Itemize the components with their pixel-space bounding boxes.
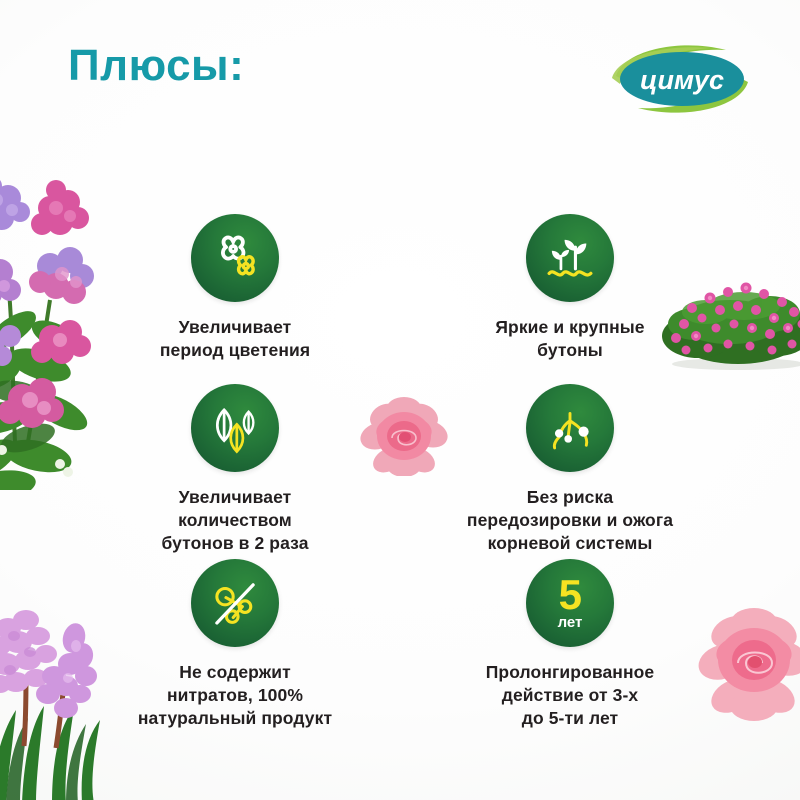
two-flowers-icon [206,229,264,287]
three-leaves-icon [206,399,264,457]
benefit-label: Яркие и крупные бутоны [420,316,720,362]
benefit-label: Без риска передозировки и ожога корневой… [420,486,720,555]
benefit-icon-badge [191,559,279,647]
benefits-grid: Увеличивает период цветения [0,0,800,800]
years-unit: лет [558,615,583,630]
benefit-icon-badge [191,384,279,472]
root-system-icon [541,399,599,457]
benefit-item-bloom-period[interactable]: Увеличивает период цветения [85,214,385,362]
years-number: 5 [559,576,582,615]
benefit-item-prolonged-action[interactable]: 5 лет Пролонгированное действие от 3-х д… [420,559,720,730]
benefit-item-no-overdose[interactable]: Без риска передозировки и ожога корневой… [420,384,720,555]
benefit-label: Увеличивает количеством бутонов в 2 раза [85,486,385,555]
benefit-label: Не содержит нитратов, 100% натуральный п… [85,661,385,730]
benefit-item-bud-count[interactable]: Увеличивает количеством бутонов в 2 раза [85,384,385,555]
poster-canvas: Плюсы: цимус [0,0,800,800]
benefit-icon-badge: 5 лет [526,559,614,647]
benefit-icon-badge [191,214,279,302]
no-nitrates-icon [206,574,264,632]
five-years-icon: 5 лет [558,576,583,631]
benefit-icon-badge [526,384,614,472]
benefit-label: Увеличивает период цветения [85,316,385,362]
benefit-item-no-nitrates[interactable]: Не содержит нитратов, 100% натуральный п… [85,559,385,730]
benefit-item-bright-buds[interactable]: Яркие и крупные бутоны [420,214,720,362]
benefit-label: Пролонгированное действие от 3-х до 5-ти… [420,661,720,730]
sprouts-over-water-icon [541,229,599,287]
benefit-icon-badge [526,214,614,302]
